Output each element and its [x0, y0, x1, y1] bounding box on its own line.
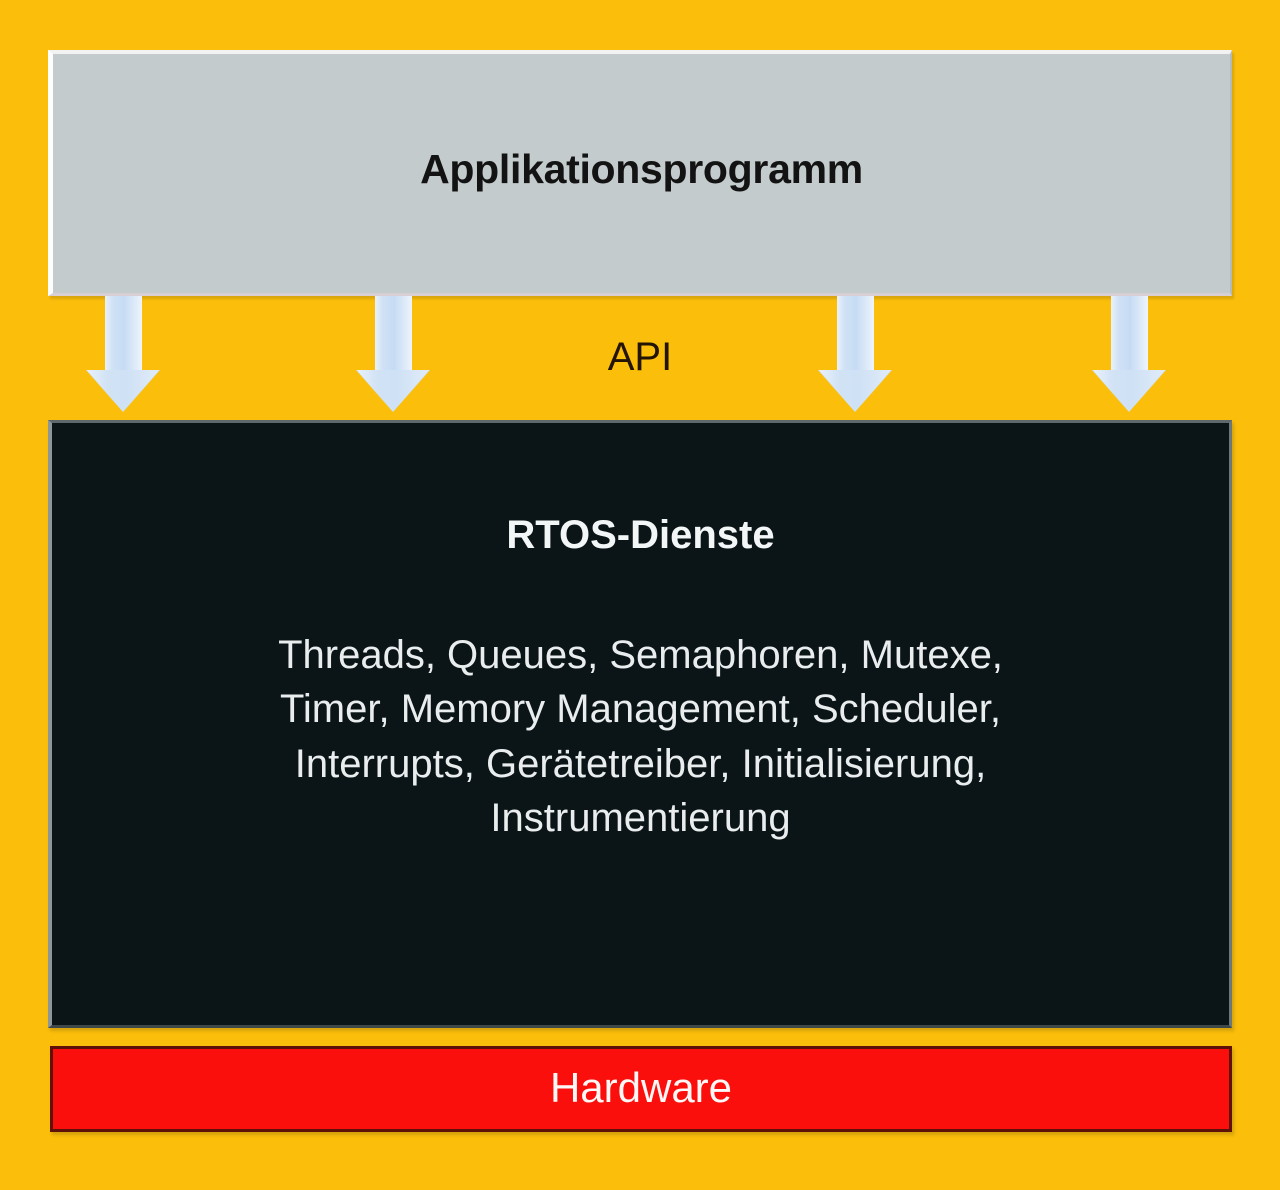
- api-arrow-2: [356, 296, 430, 412]
- api-arrow-3: [818, 296, 892, 412]
- application-program-label: Applikationsprogramm: [420, 149, 863, 190]
- rtos-services-title: RTOS-Dienste: [506, 515, 774, 555]
- api-arrow-1-shaft: [105, 296, 142, 372]
- api-arrow-2-shaft: [375, 296, 412, 372]
- api-arrow-1-head: [86, 370, 160, 412]
- api-arrow-3-shaft: [837, 296, 874, 372]
- rtos-service-line: Threads, Queues, Semaphoren, Mutexe,: [136, 628, 1146, 682]
- api-arrow-4-shaft: [1111, 296, 1148, 372]
- rtos-services-list: Threads, Queues, Semaphoren, Mutexe, Tim…: [136, 628, 1146, 846]
- api-arrow-2-head: [356, 370, 430, 412]
- api-arrow-1: [86, 296, 160, 412]
- rtos-service-line: Interrupts, Gerätetreiber, Initialisieru…: [136, 737, 1146, 791]
- rtos-services-box: RTOS-Dienste Threads, Queues, Semaphoren…: [48, 420, 1232, 1028]
- rtos-service-line: Timer, Memory Management, Scheduler,: [136, 682, 1146, 736]
- rtos-layer-diagram: Applikationsprogramm API RTOS-Dienste Th…: [0, 0, 1280, 1190]
- rtos-service-line: Instrumentierung: [136, 791, 1146, 845]
- hardware-box: Hardware: [50, 1046, 1232, 1132]
- api-label: API: [560, 337, 720, 377]
- api-arrow-3-head: [818, 370, 892, 412]
- hardware-label: Hardware: [550, 1067, 732, 1109]
- api-arrow-4: [1092, 296, 1166, 412]
- application-program-box: Applikationsprogramm: [48, 50, 1232, 296]
- api-arrow-4-head: [1092, 370, 1166, 412]
